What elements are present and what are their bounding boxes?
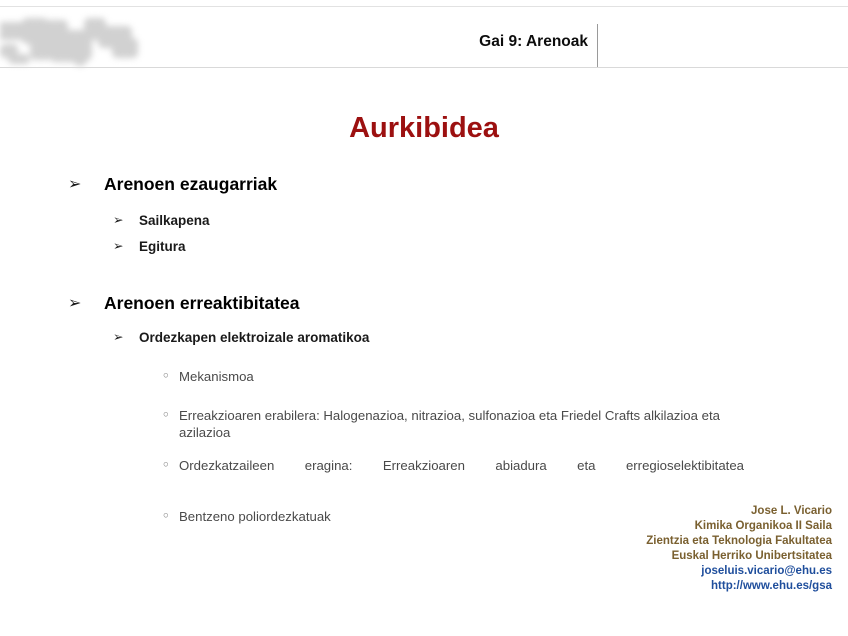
author-faculty: Zientzia eta Teknologia Fakultatea: [412, 534, 832, 549]
author-email-link[interactable]: joseluis.vicario@ehu.es: [412, 564, 832, 579]
header-topic-title: Gai 9: Arenoak: [0, 33, 588, 51]
outline-item-level1: ➢ Arenoen ezaugarriak: [0, 174, 848, 195]
header-bottom-divider: [0, 67, 848, 68]
arrow-bullet-icon: ➢: [68, 294, 81, 313]
outline-item-level2: ➢ Sailkapena: [0, 213, 848, 229]
outline-item-label: Arenoen ezaugarriak: [104, 174, 277, 194]
arrow-bullet-icon: ➢: [113, 330, 123, 345]
spacer: [0, 229, 848, 239]
circle-bullet-icon: ○: [163, 370, 169, 382]
outline-item-level3: ○ Mekanismoa: [0, 368, 848, 385]
outline-item-label: Arenoen erreaktibitatea: [104, 293, 300, 313]
outline-item-level1: ➢ Arenoen erreaktibitatea: [0, 293, 848, 314]
header-top-divider: [0, 6, 848, 7]
spacer: [0, 346, 848, 368]
outline-item-label: Mekanismoa: [179, 368, 744, 385]
outline-item-label: Ordezkatzaileen eragina: Erreakzioaren a…: [179, 457, 744, 491]
circle-bullet-icon: ○: [163, 510, 169, 522]
spacer: [0, 314, 848, 330]
outline-item-level2: ➢ Ordezkapen elektroizale aromatikoa: [0, 330, 848, 346]
circle-bullet-icon: ○: [163, 459, 169, 471]
spacer: [0, 255, 848, 293]
outline-item-level3: ○ Ordezkatzaileen eragina: Erreakzioaren…: [0, 457, 848, 491]
slide-canvas: Gai 9: Arenoak Aurkibidea ➢ Arenoen ezau…: [0, 0, 848, 636]
arrow-bullet-icon: ➢: [113, 239, 123, 254]
author-university: Euskal Herriko Unibertsitatea: [412, 549, 832, 564]
outline-item-level2: ➢ Egitura: [0, 239, 848, 255]
outline-item-label: Ordezkapen elektroizale aromatikoa: [139, 330, 369, 345]
author-department: Kimika Organikoa II Saila: [412, 519, 832, 534]
spacer: [0, 441, 848, 457]
arrow-bullet-icon: ➢: [68, 175, 81, 194]
author-website-link[interactable]: http://www.ehu.es/gsa: [412, 579, 832, 594]
circle-bullet-icon: ○: [163, 409, 169, 421]
arrow-bullet-icon: ➢: [113, 213, 123, 228]
slide-header: Gai 9: Arenoak: [0, 0, 848, 69]
outline-item-label: Erreakzioaren erabilera: Halogenazioa, n…: [179, 407, 744, 441]
outline-item-level3: ○ Erreakzioaren erabilera: Halogenazioa,…: [0, 407, 848, 441]
header-vertical-divider: [597, 24, 598, 68]
spacer: [0, 195, 848, 213]
outline-item-label: Sailkapena: [139, 213, 210, 228]
spacer: [0, 385, 848, 407]
author-contact-block: Jose L. Vicario Kimika Organikoa II Sail…: [412, 504, 832, 594]
author-name: Jose L. Vicario: [412, 504, 832, 519]
outline-list: ➢ Arenoen ezaugarriak ➢ Sailkapena ➢ Egi…: [0, 174, 848, 525]
page-title: Aurkibidea: [0, 112, 848, 145]
outline-item-label: Egitura: [139, 239, 186, 254]
